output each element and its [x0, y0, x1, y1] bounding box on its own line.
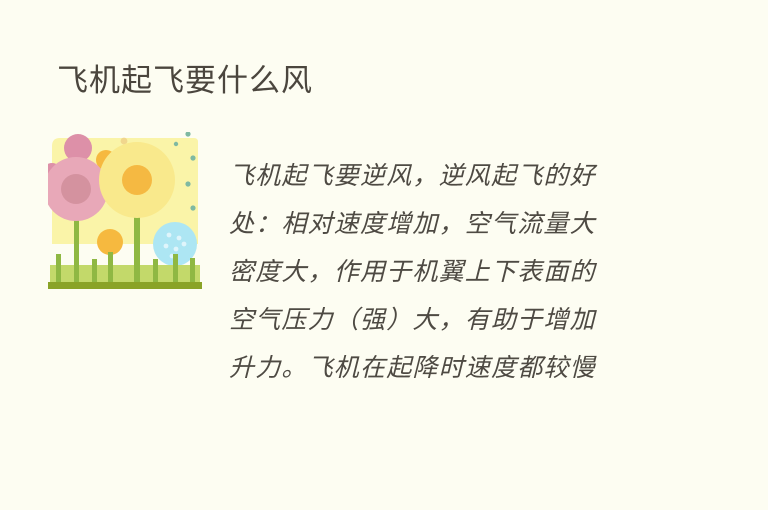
grass-base-strip: [48, 282, 202, 289]
blue-flower-dot-5: [182, 242, 187, 247]
teal-dot-6: [174, 142, 178, 146]
body-line: 密度大，作用于机翼上下表面的: [229, 248, 641, 296]
blue-flower-dot-3: [164, 244, 169, 249]
grass-blade-4: [108, 252, 113, 283]
article-body: 飞机起飞要逆风，逆风起飞的好 处：相对速度增加，空气流量大 密度大，作用于机翼上…: [229, 152, 641, 392]
grass-blade-6: [153, 259, 158, 283]
grass-blade-7: [173, 254, 178, 283]
teal-dot-3: [185, 181, 190, 186]
body-line: 飞机起飞要逆风，逆风起飞的好: [229, 152, 641, 200]
grass-blade-3: [92, 259, 97, 283]
flower-field-illustration: [48, 132, 204, 292]
blue-flower-dot-2: [177, 236, 182, 241]
grass-blade-2: [74, 250, 79, 283]
yellow-flower-large-center: [122, 165, 152, 195]
body-line: 升力。飞机在起降时速度都较慢: [229, 344, 641, 392]
grass-blade-5: [134, 248, 140, 283]
grass-blade-1: [56, 254, 61, 283]
orange-flower-head: [97, 229, 123, 255]
teal-dot-2: [190, 155, 195, 160]
illustration-svg: [48, 132, 204, 292]
teal-dot-4: [190, 205, 195, 210]
blue-flower-dot-1: [167, 233, 172, 238]
grass-blade-8: [190, 258, 195, 283]
body-line: 处：相对速度增加，空气流量大: [229, 200, 641, 248]
teal-dot-1: [185, 132, 190, 137]
cream-dot-1: [121, 138, 128, 145]
pink-flower-large-center: [61, 174, 91, 204]
article-page: 飞机起飞要什么风: [0, 0, 768, 510]
page-title: 飞机起飞要什么风: [57, 60, 313, 102]
blue-flower-dot-4: [174, 247, 179, 252]
body-line: 空气压力（强）大，有助于增加: [229, 296, 641, 344]
